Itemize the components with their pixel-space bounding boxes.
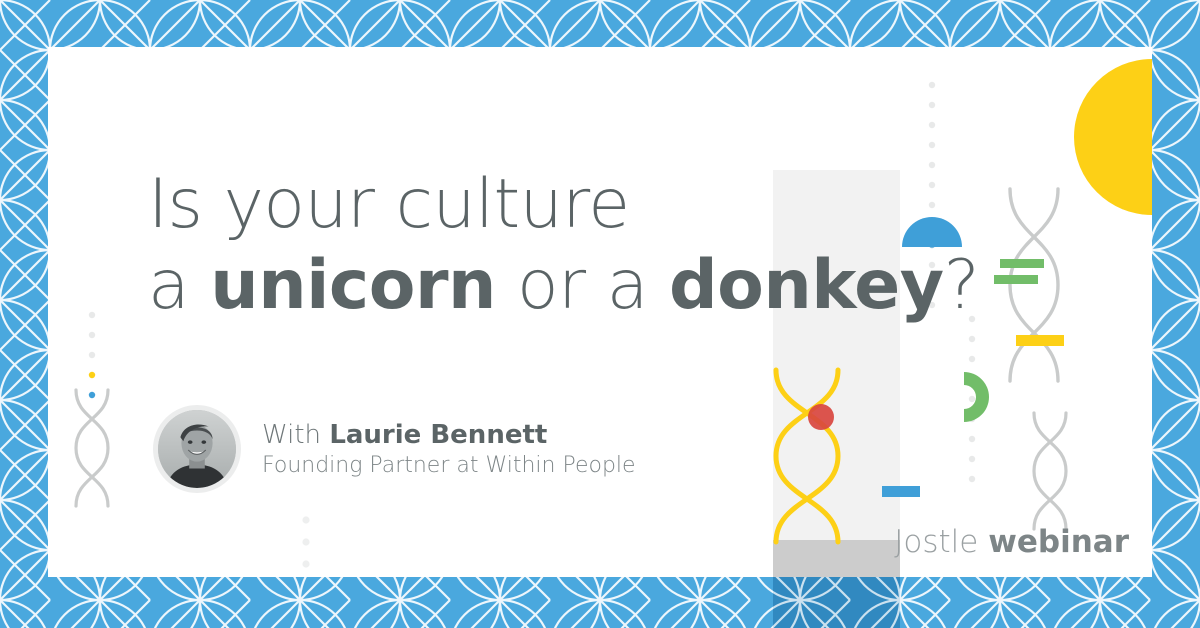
helix-gray-left xyxy=(76,390,108,506)
headline-emphasis-unicorn: unicorn xyxy=(210,246,496,325)
presenter-block: With Laurie Bennett Founding Partner at … xyxy=(153,405,636,493)
headline-line-1: Is your culture xyxy=(148,168,988,241)
headline-text-c: ? xyxy=(944,246,980,325)
headline-text-a: a xyxy=(148,246,210,325)
avatar xyxy=(153,405,241,493)
red-dot-marker xyxy=(808,404,834,430)
brand-type: webinar xyxy=(988,524,1129,560)
headline-line-2: a unicorn or a donkey? xyxy=(148,249,988,322)
headline-emphasis-donkey: donkey xyxy=(669,246,944,325)
dotted-line-left xyxy=(89,312,95,398)
blue-bar-marker xyxy=(882,486,920,497)
presenter-text: With Laurie Bennett Founding Partner at … xyxy=(262,420,636,478)
presenter-name-value: Laurie Bennett xyxy=(329,420,547,450)
white-content-card: Is your culture a unicorn or a donkey? xyxy=(48,47,1152,577)
presenter-with-label: With xyxy=(262,420,329,450)
presenter-name: With Laurie Bennett xyxy=(262,420,636,450)
presenter-role: Founding Partner at Within People xyxy=(262,453,636,478)
page-title: Is your culture a unicorn or a donkey? xyxy=(148,168,988,323)
dotted-line-bottom-left xyxy=(302,516,309,567)
brand-lockup: Jostle webinar xyxy=(894,524,1129,560)
yellow-circle xyxy=(1074,59,1152,215)
helix-gray-upper-bars xyxy=(994,259,1064,346)
helix-gray-lower xyxy=(1034,413,1066,529)
helix-gray-upper xyxy=(1010,189,1058,381)
helix-yellow xyxy=(776,370,838,542)
webinar-promo-poster: Is your culture a unicorn or a donkey? xyxy=(0,0,1200,628)
green-crescent-shape xyxy=(964,372,989,422)
headline-text-b: or a xyxy=(496,246,669,325)
brand-name: Jostle xyxy=(894,524,988,560)
dotted-line-lower-right xyxy=(969,316,975,482)
